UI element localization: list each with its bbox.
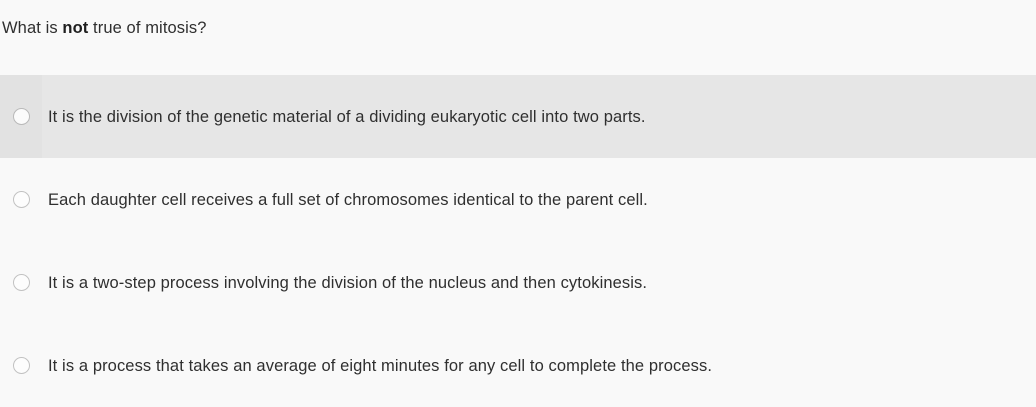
answer-option-2[interactable]: Each daughter cell receives a full set o… [0,158,1036,241]
radio-button-icon[interactable] [13,191,30,208]
answer-option-1[interactable]: It is the division of the genetic materi… [0,75,1036,158]
answer-option-label: It is the division of the genetic materi… [48,106,646,128]
radio-button-icon[interactable] [13,357,30,374]
question-text-suffix: true of mitosis? [88,19,206,37]
question-text-prefix: What is [2,19,62,37]
question-text-emphasis: not [62,19,88,37]
quiz-question-block: What is not true of mitosis? It is the d… [0,0,1036,403]
radio-button-icon[interactable] [13,274,30,291]
answer-option-3[interactable]: It is a two-step process involving the d… [0,241,1036,324]
answer-option-4[interactable]: It is a process that takes an average of… [0,324,1036,407]
answer-option-label: Each daughter cell receives a full set o… [48,189,648,211]
answer-options-list: It is the division of the genetic materi… [0,75,1036,407]
answer-option-label: It is a process that takes an average of… [48,355,712,377]
question-text: What is not true of mitosis? [2,17,207,39]
answer-option-label: It is a two-step process involving the d… [48,272,647,294]
radio-button-icon[interactable] [13,108,30,125]
